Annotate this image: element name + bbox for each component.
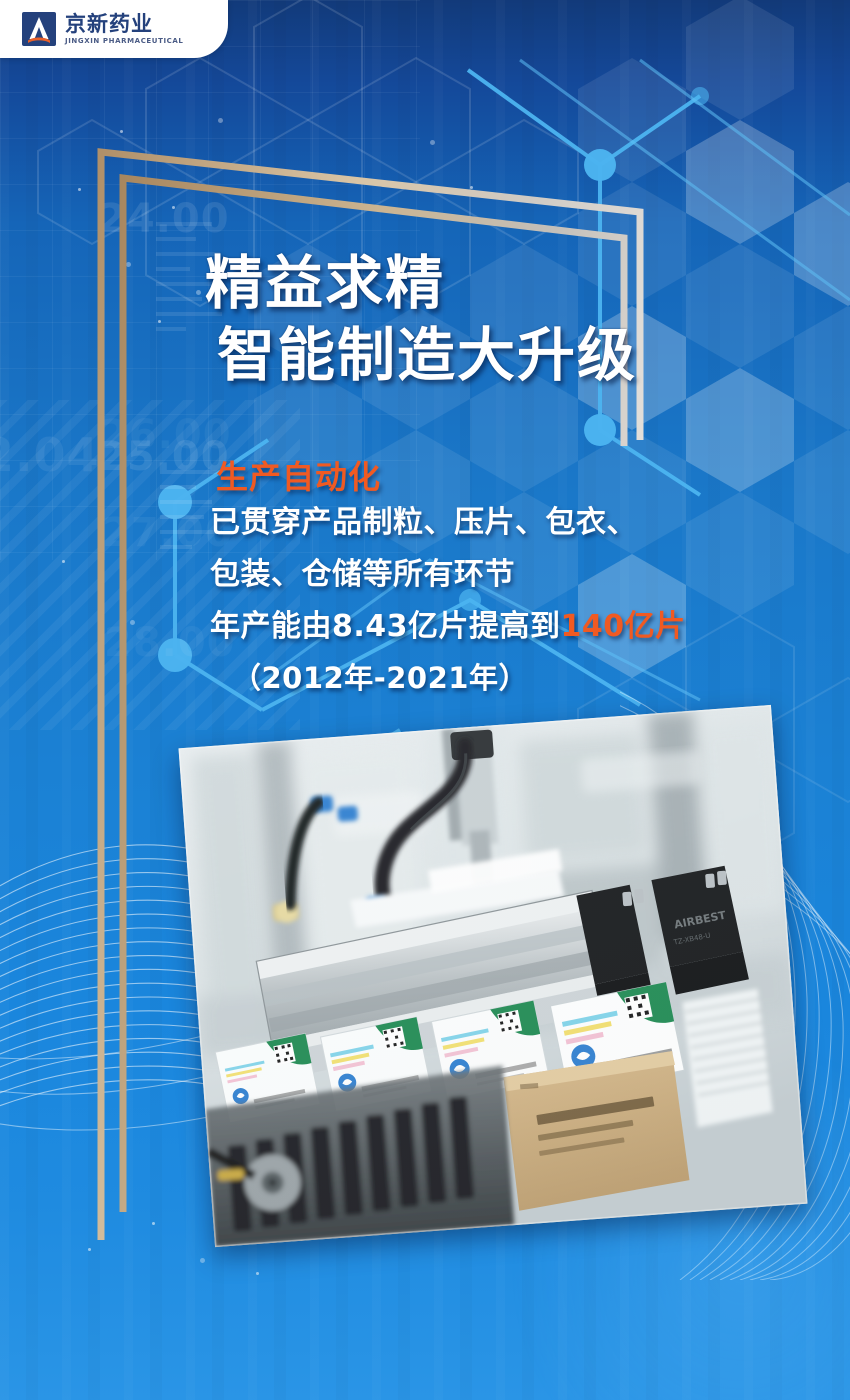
title-line-2: 智能制造大升级 [217, 320, 637, 392]
body-line-3-highlight: 140亿片 [561, 609, 686, 644]
title-block: 精益求精 智能制造大升级 [205, 248, 637, 392]
body-line-1: 已贯穿产品制粒、压片、包衣、 [210, 508, 810, 538]
subtitle-production-automation: 生产自动化 [216, 452, 381, 498]
body-line-3-prefix: 年产能由8.43亿片提高到 [210, 609, 561, 644]
body-line-3: 年产能由8.43亿片提高到140亿片 [210, 612, 810, 642]
poster-content: 精益求精 智能制造大升级 生产自动化 已贯穿产品制粒、压片、包衣、 包装、仓储等… [0, 0, 850, 1400]
factory-photo-image: AIRBEST TZ-XB48-U [178, 705, 807, 1247]
factory-photo: AIRBEST TZ-XB48-U [178, 705, 807, 1247]
brand-logo-bar: 京新药业 JINGXIN PHARMACEUTICAL [0, 0, 228, 58]
jingxin-mountain-logo-icon [22, 12, 56, 46]
poster-root: 24.00 25.00 26.00 27.00 28.00 2.04 [0, 0, 850, 1400]
body-line-2: 包装、仓储等所有环节 [210, 560, 810, 590]
body-line-4-daterange: （2012年-2021年） [232, 664, 810, 693]
title-line-1: 精益求精 [205, 248, 637, 320]
brand-name-cn: 京新药业 [65, 14, 184, 35]
brand-name-en: JINGXIN PHARMACEUTICAL [65, 38, 184, 45]
body-copy: 已贯穿产品制粒、压片、包衣、 包装、仓储等所有环节 年产能由8.43亿片提高到1… [210, 508, 810, 715]
